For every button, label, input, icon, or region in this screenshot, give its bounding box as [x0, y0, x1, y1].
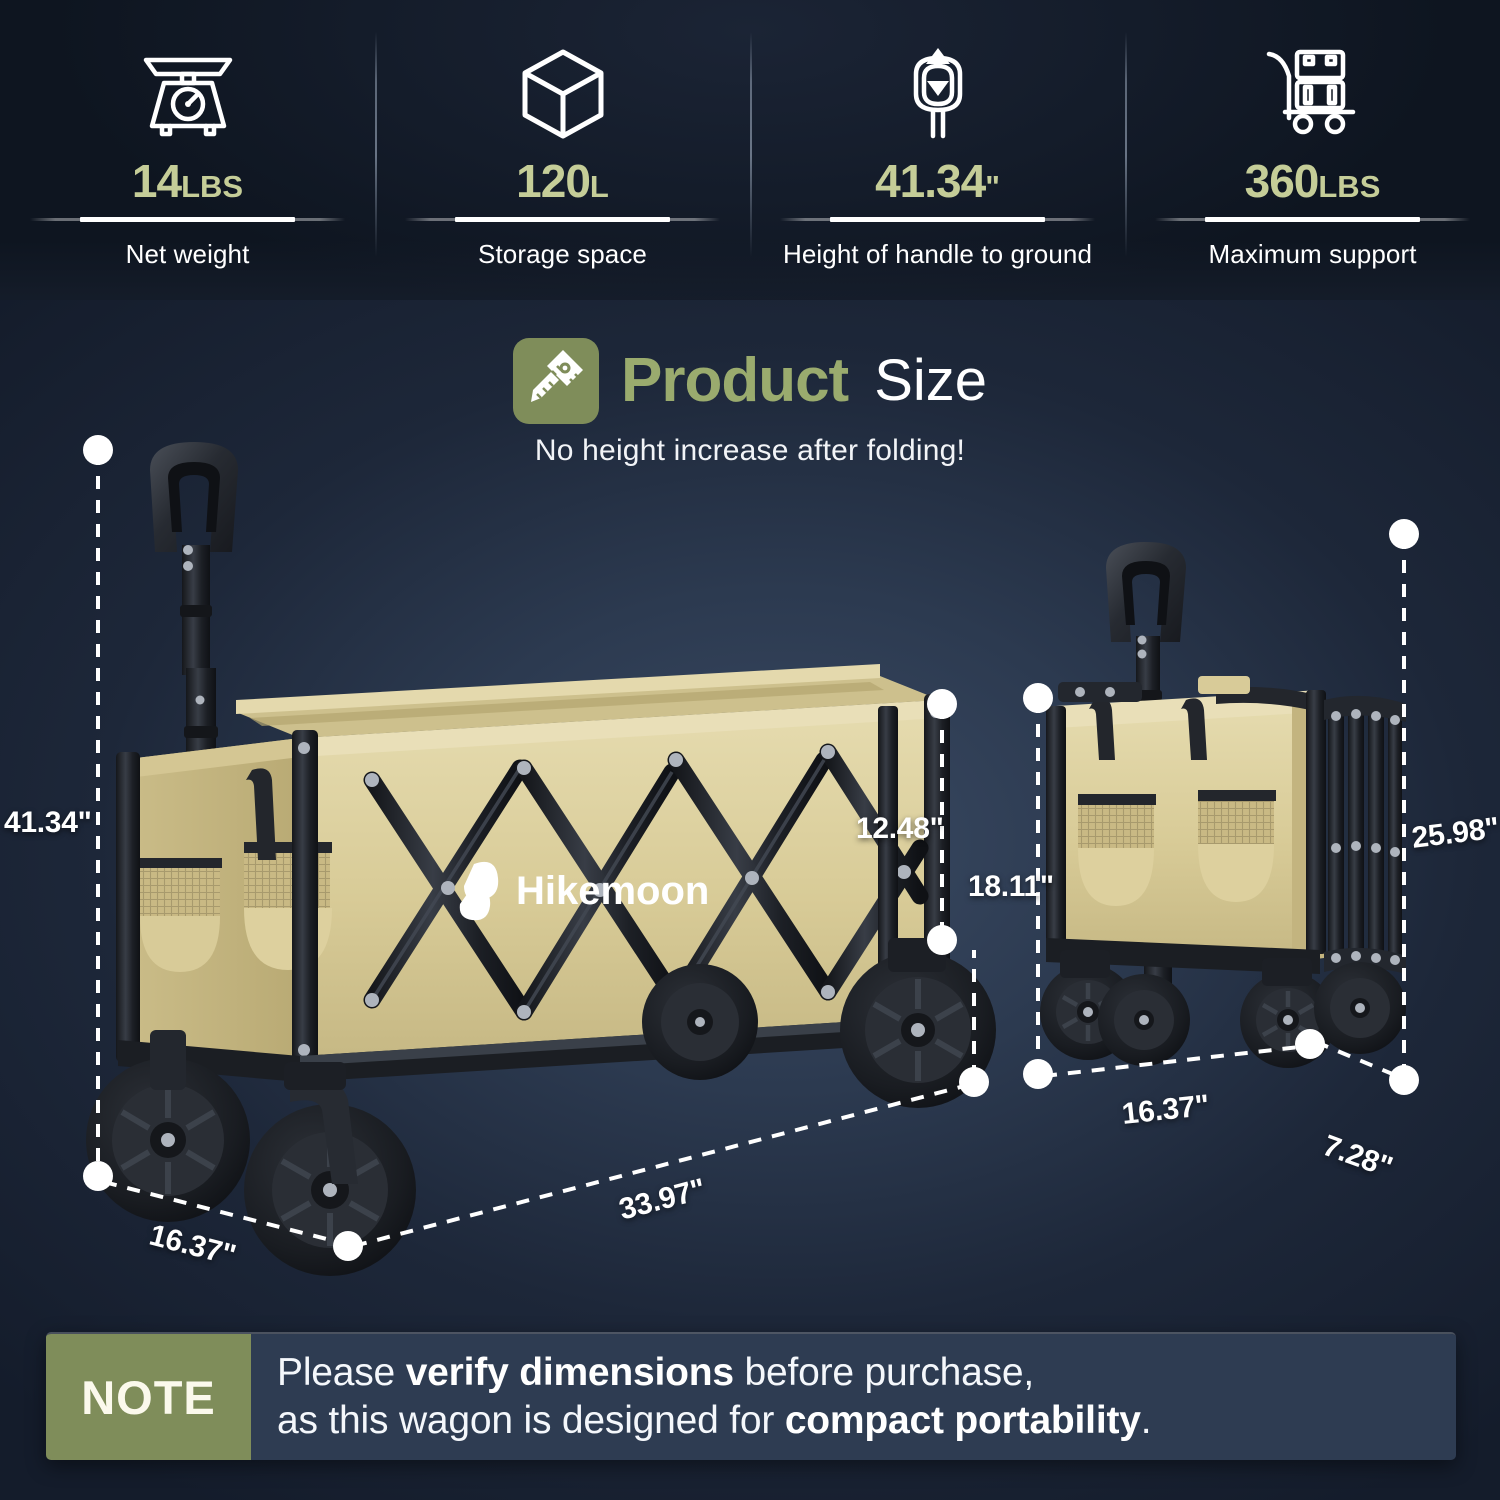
- note-banner: NOTE Please verify dimensions before pur…: [46, 1332, 1456, 1460]
- spec-bar: 14LBS Net weight 120L Storage space: [0, 18, 1500, 288]
- spec-caption: Maximum support: [1208, 239, 1416, 270]
- height-adjust-icon: [892, 46, 984, 142]
- unfolded-wagon: Hikemoon: [86, 442, 996, 1276]
- folded-body: [1046, 676, 1406, 974]
- dim-label-folded-body-height: 18.11": [968, 870, 1054, 904]
- spec-underline: [780, 218, 1095, 221]
- spec-caption: Net weight: [126, 239, 250, 270]
- note-tag-label: NOTE: [81, 1370, 216, 1425]
- spec-caption: Storage space: [478, 239, 647, 270]
- platform-cart-icon: [1261, 46, 1365, 142]
- heading-title-accent: Product: [621, 350, 848, 412]
- spec-value: 14LBS: [132, 158, 243, 204]
- ruler-pencil-icon: [513, 338, 599, 424]
- spec-value: 360LBS: [1245, 158, 1381, 204]
- folded-wagon: [1040, 542, 1406, 1068]
- wagon-body-open: Hikemoon: [116, 664, 950, 1082]
- heading-subtitle: No height increase after folding!: [535, 434, 965, 468]
- spec-item-handle-height: 41.34" Height of handle to ground: [750, 18, 1125, 288]
- spec-underline: [30, 218, 345, 221]
- dim-label-open-height: 41.34": [4, 806, 92, 840]
- spec-caption: Height of handle to ground: [783, 239, 1092, 270]
- spec-item-net-weight: 14LBS Net weight: [0, 18, 375, 288]
- kitchen-scale-icon: [136, 46, 240, 142]
- heading-row: Product Size: [513, 338, 987, 424]
- spec-value: 120L: [516, 158, 609, 204]
- spec-item-storage-space: 120L Storage space: [375, 18, 750, 288]
- heading-title-plain: Size: [874, 352, 987, 410]
- spec-item-max-support: 360LBS Maximum support: [1125, 18, 1500, 288]
- spec-underline: [405, 218, 720, 221]
- cube-box-icon: [515, 46, 611, 142]
- note-line-1: Please verify dimensions before purchase…: [277, 1349, 1430, 1397]
- note-body: Please verify dimensions before purchase…: [251, 1334, 1456, 1460]
- infographic-canvas: 14LBS Net weight 120L Storage space: [0, 0, 1500, 1500]
- note-line-2: as this wagon is designed for compact po…: [277, 1397, 1430, 1445]
- dim-label-open-side-height: 12.48": [856, 812, 944, 846]
- spec-underline: [1155, 218, 1470, 221]
- svg-text:Hikemoon: Hikemoon: [516, 869, 709, 913]
- product-size-heading: Product Size No height increase after fo…: [0, 338, 1500, 468]
- note-tag: NOTE: [46, 1334, 251, 1460]
- spec-value: 41.34": [875, 158, 1000, 204]
